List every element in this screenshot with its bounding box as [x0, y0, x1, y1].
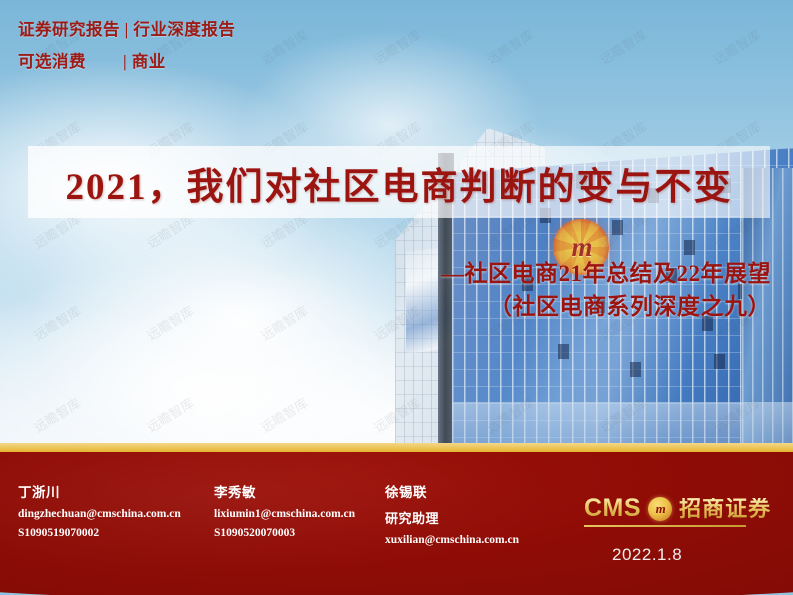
cms-logo-chinese-text: 招商证券	[679, 498, 771, 520]
window-panel	[558, 344, 569, 359]
cms-brand-logo: CMS m 招商证券	[584, 496, 771, 521]
author-license-number: S1090520070003	[214, 527, 355, 539]
emblem-glyph: m	[571, 234, 590, 261]
report-date: 2022.1.8	[612, 545, 682, 565]
author-column: 徐锡联 研究助理 xuxilian@cmschina.com.cn	[385, 481, 519, 553]
author-column: 丁浙川 dingzhechuan@cmschina.com.cn S109051…	[18, 481, 181, 546]
report-header: 证券研究报告 | 行业深度报告 可选消费 | 商业	[18, 14, 235, 78]
window-panel	[684, 240, 695, 255]
author-list: 丁浙川 dingzhechuan@cmschina.com.cn S109051…	[0, 452, 793, 595]
cms-logo-emblem-glyph: m	[656, 502, 665, 515]
report-category-line: 证券研究报告 | 行业深度报告	[18, 14, 235, 46]
author-name: 李秀敏	[214, 481, 355, 501]
cms-logo-underline	[584, 525, 746, 527]
author-column: 李秀敏 lixiumin1@cmschina.com.cn S109052007…	[214, 481, 355, 546]
subtitle-line-2: （社区电商系列深度之九）	[441, 291, 771, 324]
window-panel	[612, 220, 623, 235]
author-email[interactable]: xuxilian@cmschina.com.cn	[385, 534, 519, 546]
author-email[interactable]: dingzhechuan@cmschina.com.cn	[18, 508, 181, 520]
window-panel	[630, 362, 641, 377]
report-cover-slide: m 远瞻智库 远瞻智库 远瞻智库 远瞻智库 远瞻智库 远瞻智库 远瞻智库 远瞻智…	[0, 0, 793, 595]
report-sector-line: 可选消费 | 商业	[18, 46, 235, 78]
subtitle-line-1: —社区电商21年总结及22年展望	[441, 258, 771, 291]
report-subtitle: —社区电商21年总结及22年展望 （社区电商系列深度之九）	[441, 258, 771, 323]
cms-logo-emblem-icon: m	[648, 497, 672, 521]
report-title: 2021，我们对社区电商判断的变与不变	[28, 148, 770, 218]
author-name: 徐锡联	[385, 481, 519, 501]
window-panel	[714, 354, 725, 369]
cms-logo-latin-text: CMS	[584, 496, 641, 521]
author-name: 丁浙川	[18, 481, 181, 501]
author-email[interactable]: lixiumin1@cmschina.com.cn	[214, 508, 355, 520]
author-license-number: S1090519070002	[18, 527, 181, 539]
author-role: 研究助理	[385, 508, 519, 527]
